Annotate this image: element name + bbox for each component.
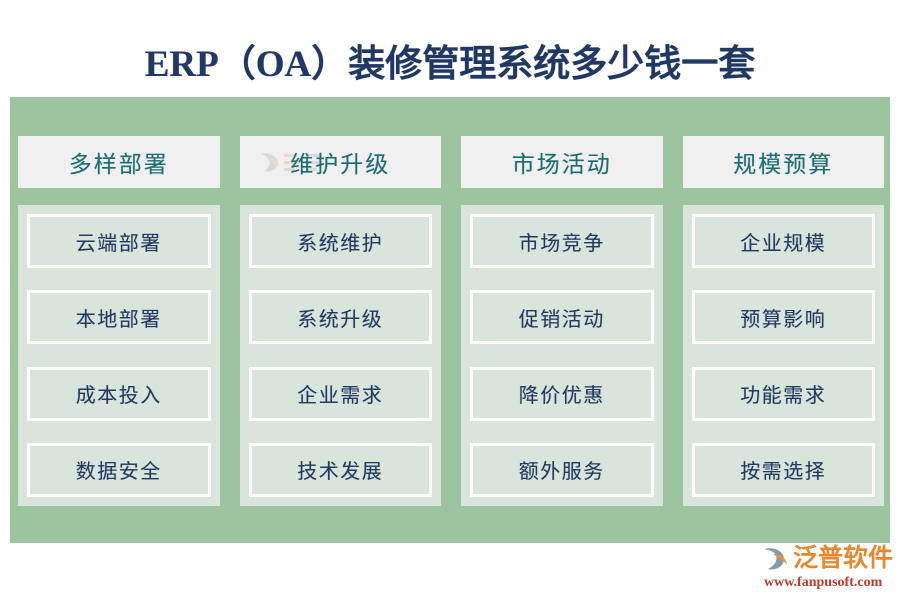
- list-item-label: 促销活动: [519, 303, 605, 332]
- column-4-header[interactable]: 规模预算: [683, 136, 885, 188]
- fanpu-swoosh-logo-icon: [762, 545, 792, 573]
- column-1-body: 云端部署 本地部署 成本投入 数据安全: [18, 205, 220, 506]
- list-item[interactable]: 系统升级: [249, 290, 433, 344]
- brand-name: 泛普软件: [793, 545, 893, 573]
- list-item-label: 系统升级: [297, 303, 383, 332]
- list-item-label: 云端部署: [76, 227, 162, 256]
- list-item-label: 企业需求: [297, 379, 383, 408]
- list-item-label: 技术发展: [297, 455, 383, 484]
- column-4-body: 企业规模 预算影响 功能需求 按需选择: [683, 205, 885, 506]
- column-3-header-label: 市场活动: [512, 145, 612, 179]
- list-item-label: 成本投入: [76, 379, 162, 408]
- column-4-header-label: 规模预算: [733, 145, 833, 179]
- slide-page: ERP（OA）装修管理系统多少钱一套 多样部署 云端部署 本地部署 成本投入: [0, 0, 900, 600]
- list-item[interactable]: 企业规模: [692, 214, 876, 268]
- column-4: 规模预算 企业规模 预算影响 功能需求 按需选择: [683, 136, 885, 506]
- list-item-label: 系统维护: [297, 227, 383, 256]
- list-item[interactable]: 市场竞争: [470, 214, 654, 268]
- page-title-bar: ERP（OA）装修管理系统多少钱一套: [0, 30, 900, 90]
- columns-container: 多样部署 云端部署 本地部署 成本投入 数据安全: [18, 136, 884, 506]
- list-item-label: 按需选择: [740, 455, 826, 484]
- column-3: 市场活动 市场竞争 促销活动 降价优惠 额外服务: [461, 136, 663, 506]
- list-item[interactable]: 预算影响: [692, 290, 876, 344]
- list-item[interactable]: 额外服务: [470, 443, 654, 497]
- list-item[interactable]: 功能需求: [692, 367, 876, 421]
- column-2-header[interactable]: 维护升级: [240, 136, 442, 188]
- column-2: 维护升级 系统维护 系统升级 企业需求 技术发展: [240, 136, 442, 506]
- brand-logo: 泛普软件 www.fanpusoft.com: [762, 543, 892, 593]
- list-item[interactable]: 成本投入: [27, 367, 211, 421]
- list-item[interactable]: 降价优惠: [470, 367, 654, 421]
- column-1: 多样部署 云端部署 本地部署 成本投入 数据安全: [18, 136, 220, 506]
- column-2-header-label: 维护升级: [290, 145, 390, 179]
- list-item[interactable]: 云端部署: [27, 214, 211, 268]
- list-item-label: 额外服务: [519, 455, 605, 484]
- brand-url: www.fanpusoft.com: [764, 575, 892, 591]
- list-item-label: 降价优惠: [519, 379, 605, 408]
- column-1-header[interactable]: 多样部署: [18, 136, 220, 188]
- list-item-label: 数据安全: [76, 455, 162, 484]
- list-item-label: 企业规模: [740, 227, 826, 256]
- brand-logo-row: 泛普软件: [762, 543, 892, 575]
- list-item[interactable]: 按需选择: [692, 443, 876, 497]
- list-item-label: 预算影响: [740, 303, 826, 332]
- list-item-label: 市场竞争: [519, 227, 605, 256]
- list-item[interactable]: 系统维护: [249, 214, 433, 268]
- list-item[interactable]: 本地部署: [27, 290, 211, 344]
- list-item[interactable]: 企业需求: [249, 367, 433, 421]
- list-item-label: 本地部署: [76, 303, 162, 332]
- content-panel: 多样部署 云端部署 本地部署 成本投入 数据安全: [10, 97, 890, 543]
- list-item-label: 功能需求: [740, 379, 826, 408]
- page-title: ERP（OA）装修管理系统多少钱一套: [145, 33, 756, 87]
- column-2-body: 系统维护 系统升级 企业需求 技术发展: [240, 205, 442, 506]
- list-item[interactable]: 技术发展: [249, 443, 433, 497]
- list-item[interactable]: 促销活动: [470, 290, 654, 344]
- list-item[interactable]: 数据安全: [27, 443, 211, 497]
- column-1-header-label: 多样部署: [69, 145, 169, 179]
- column-3-header[interactable]: 市场活动: [461, 136, 663, 188]
- column-3-body: 市场竞争 促销活动 降价优惠 额外服务: [461, 205, 663, 506]
